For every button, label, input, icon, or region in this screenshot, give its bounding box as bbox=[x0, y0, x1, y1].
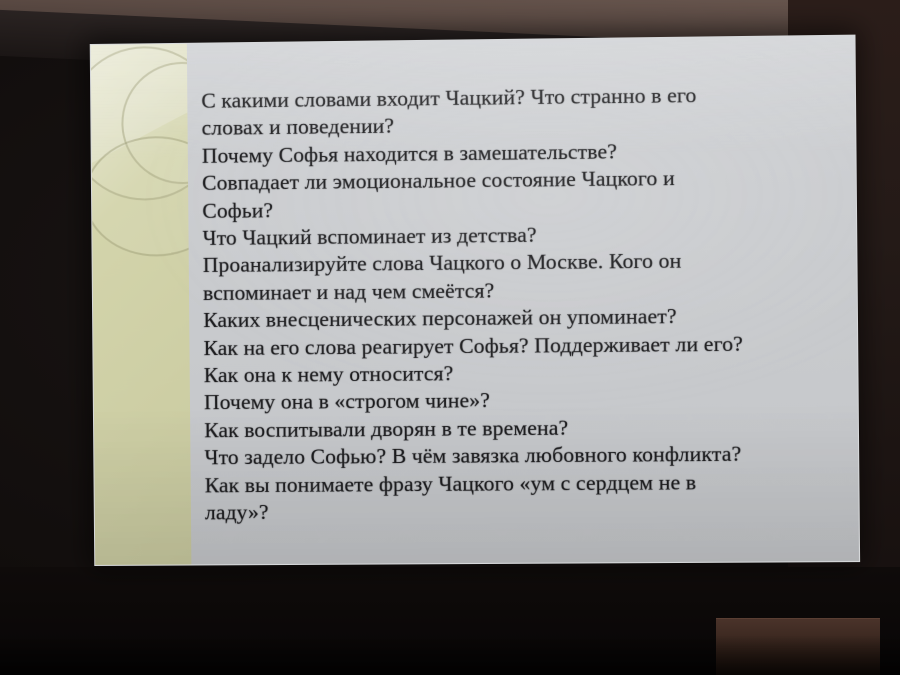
question-line: Как вы понимаете фразу Чацкого «ум с сер… bbox=[205, 468, 845, 500]
slide-surface: С какими словами входит Чацкий? Что стра… bbox=[90, 35, 860, 566]
question-line: Что задело Софью? В чём завязка любовног… bbox=[204, 440, 844, 472]
classroom-photo-scene: С какими словами входит Чацкий? Что стра… bbox=[0, 0, 900, 675]
question-list: С какими словами входит Чацкий? Что стра… bbox=[201, 80, 844, 527]
slide-content-area: С какими словами входит Чацкий? Что стра… bbox=[187, 36, 859, 565]
floor-shadow bbox=[0, 635, 900, 675]
question-line: Как воспитывали дворян в те времена? bbox=[204, 412, 844, 444]
question-line: ладу»? bbox=[205, 496, 845, 527]
projected-slide: С какими словами входит Чацкий? Что стра… bbox=[90, 35, 858, 564]
slide-sidebar-decoration bbox=[91, 44, 192, 565]
decorative-circle-icon bbox=[91, 135, 192, 257]
